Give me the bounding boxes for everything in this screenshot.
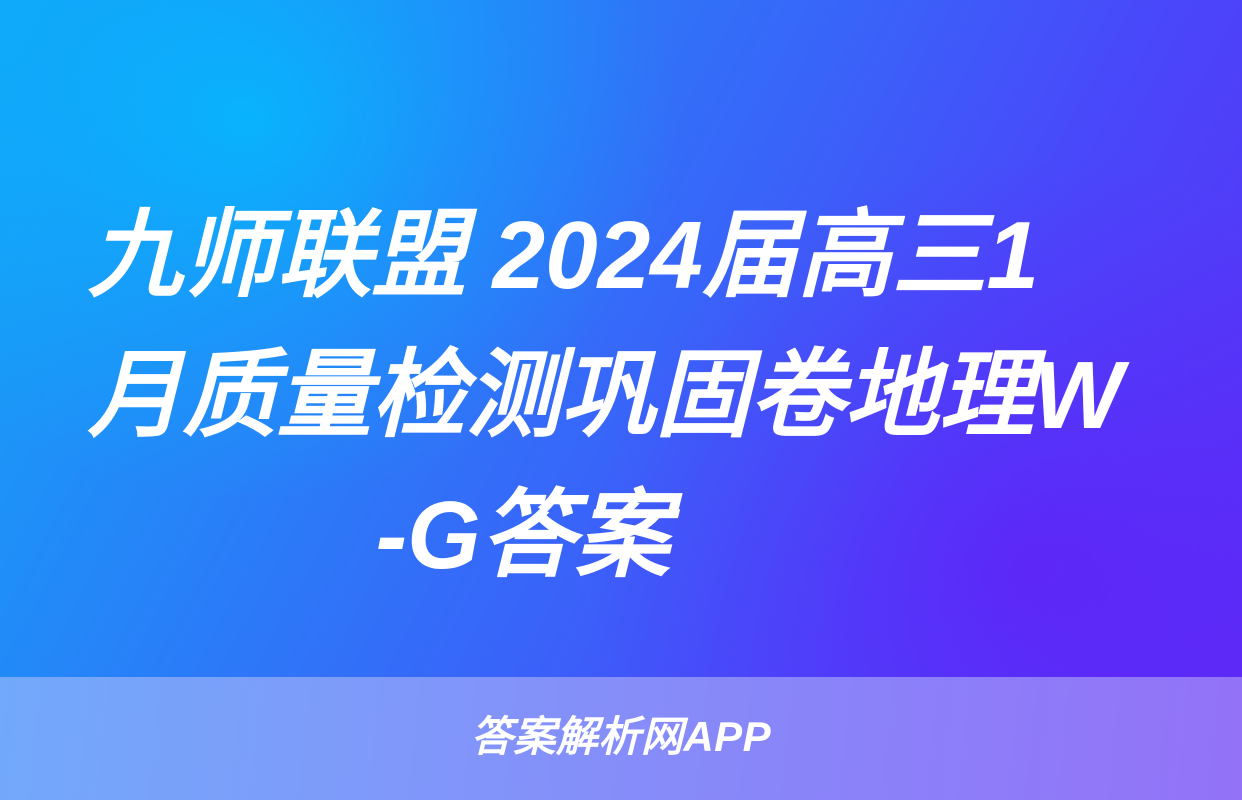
title-line-3: -G答案	[88, 466, 1152, 606]
page-title: 九师联盟 2024届高三1 月质量检测巩固卷地理W -G答案	[88, 186, 1168, 606]
footer-brand-bar: 答案解析网APP	[0, 677, 1242, 800]
title-line-1: 九师联盟 2024届高三1	[88, 186, 1152, 326]
hero-gradient-banner: 九师联盟 2024届高三1 月质量检测巩固卷地理W -G答案	[0, 0, 1242, 677]
brand-watermark-label: 答案解析网APP	[471, 716, 771, 758]
title-line-2: 月质量检测巩固卷地理W	[88, 326, 1152, 466]
answer-cover-poster: 九师联盟 2024届高三1 月质量检测巩固卷地理W -G答案 答案解析网APP	[0, 0, 1242, 800]
